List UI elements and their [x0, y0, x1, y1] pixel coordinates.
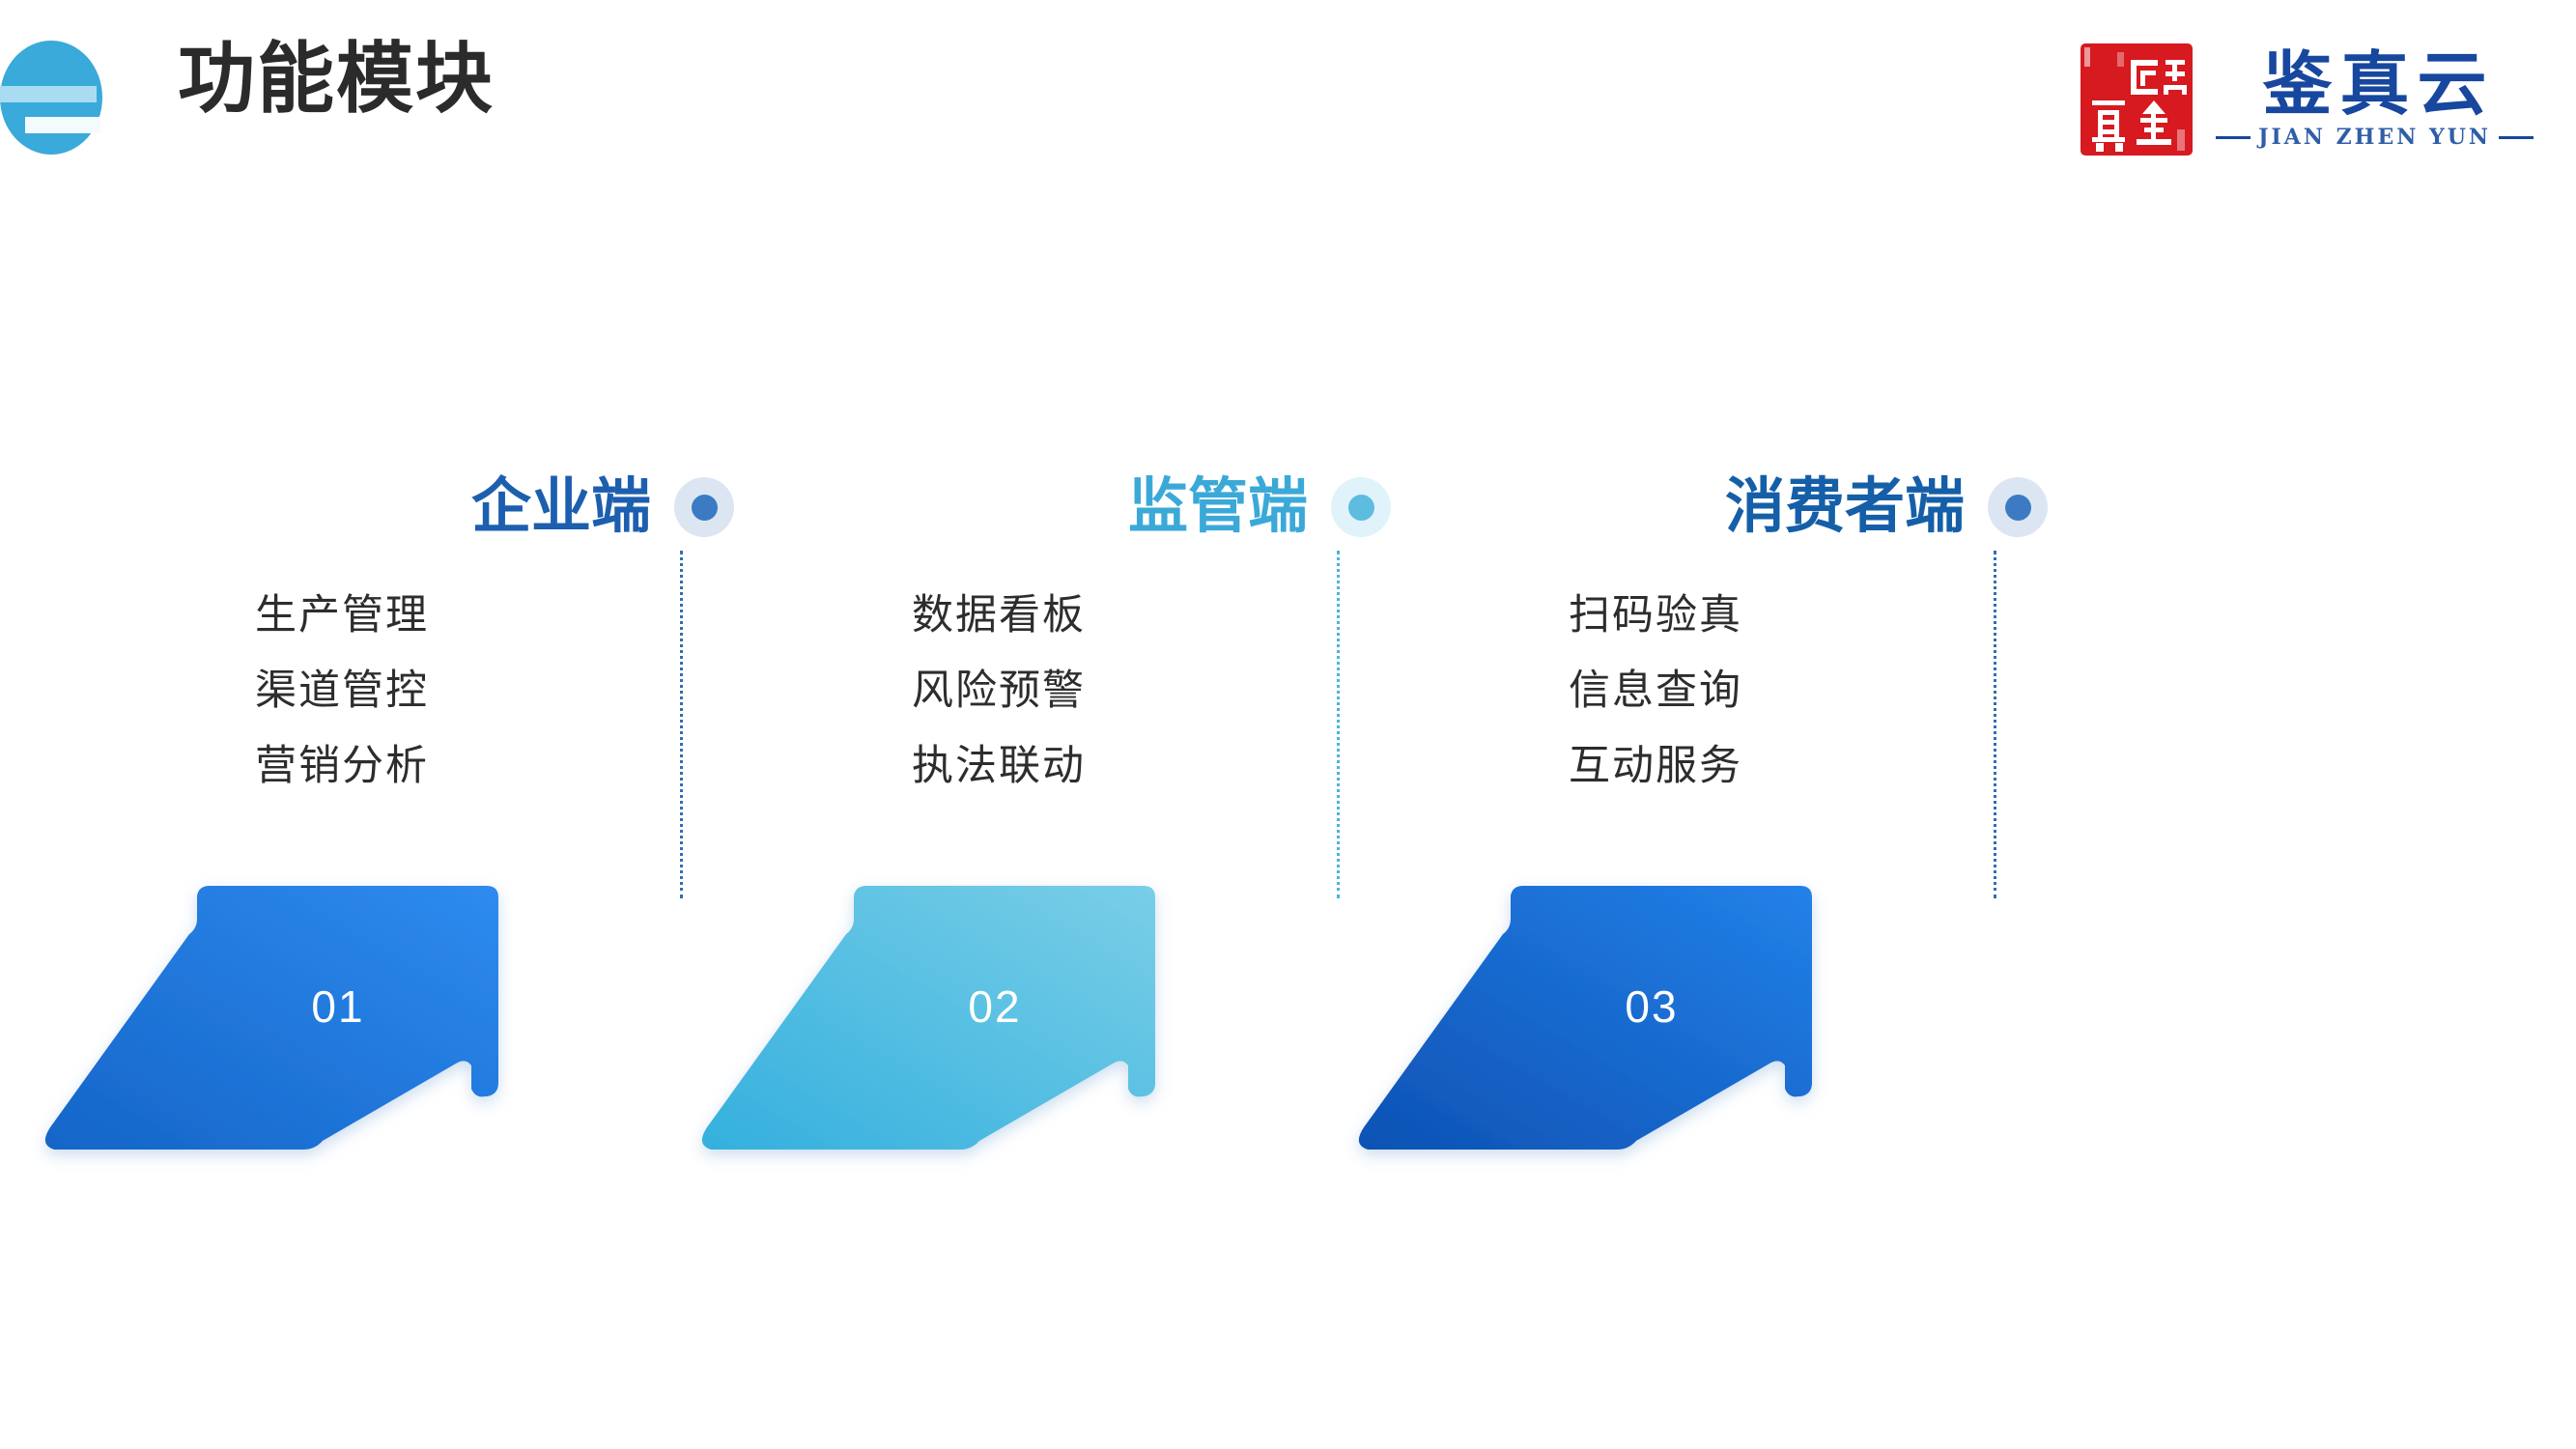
step-arrow-block[interactable]: 01 [39, 874, 734, 1174]
red-seal-stamp-icon [2079, 41, 2194, 158]
column-title: 监管端 [1128, 477, 1308, 537]
connector-dashed-line [1994, 551, 1996, 898]
column-item: 营销分析 [255, 746, 429, 787]
module-column: 监管端数据看板风险预警执法联动02 [695, 0, 1391, 1449]
column-item: 扫码验真 [1569, 595, 1742, 637]
arrow-path [45, 886, 498, 1150]
brand-name-en-row: JIAN ZHEN YUN [2216, 125, 2534, 150]
connector-dashed-line [1337, 551, 1340, 898]
arrow-shape-icon [695, 874, 1391, 1174]
column-item-list: 扫码验真信息查询互动服务 [1352, 595, 1959, 821]
brand-rule-left [2216, 136, 2250, 139]
column-marker-icon[interactable] [1988, 477, 2048, 537]
column-item: 数据看板 [912, 595, 1086, 637]
column-title: 消费者端 [1725, 477, 1965, 537]
brand-logo: 鉴真云 JIAN ZHEN YUN [2079, 41, 2534, 158]
arrow-path [702, 886, 1155, 1150]
arrow-shape-icon [1352, 874, 2048, 1174]
arrow-shape-icon [39, 874, 734, 1174]
brand-text: 鉴真云 JIAN ZHEN YUN [2216, 49, 2534, 150]
column-item: 风险预警 [912, 670, 1086, 712]
column-item: 生产管理 [255, 595, 429, 637]
column-header: 监管端 [695, 464, 1391, 551]
column-item-list: 数据看板风险预警执法联动 [695, 595, 1302, 821]
step-arrow-block[interactable]: 03 [1352, 874, 2048, 1174]
brand-rule-right [2499, 136, 2534, 139]
column-item: 互动服务 [1569, 746, 1742, 787]
column-item: 信息查询 [1569, 670, 1742, 712]
module-column: 消费者端扫码验真信息查询互动服务03 [1352, 0, 2048, 1449]
arrow-path [1359, 886, 1812, 1150]
column-item-list: 生产管理渠道管控营销分析 [39, 595, 645, 821]
marker-dot-icon [2005, 495, 2031, 521]
step-arrow-block[interactable]: 02 [695, 874, 1391, 1174]
column-header: 企业端 [39, 464, 734, 551]
brand-name-cn: 鉴真云 [2255, 49, 2495, 119]
column-item: 执法联动 [912, 746, 1086, 787]
module-column: 企业端生产管理渠道管控营销分析01 [39, 0, 734, 1449]
brand-name-en: JIAN ZHEN YUN [2258, 125, 2491, 150]
column-item: 渠道管控 [255, 670, 429, 712]
slide-canvas: 功能模块 [0, 0, 2576, 1449]
column-title: 企业端 [471, 477, 651, 537]
connector-dashed-line [680, 551, 683, 898]
column-header: 消费者端 [1352, 464, 2048, 551]
